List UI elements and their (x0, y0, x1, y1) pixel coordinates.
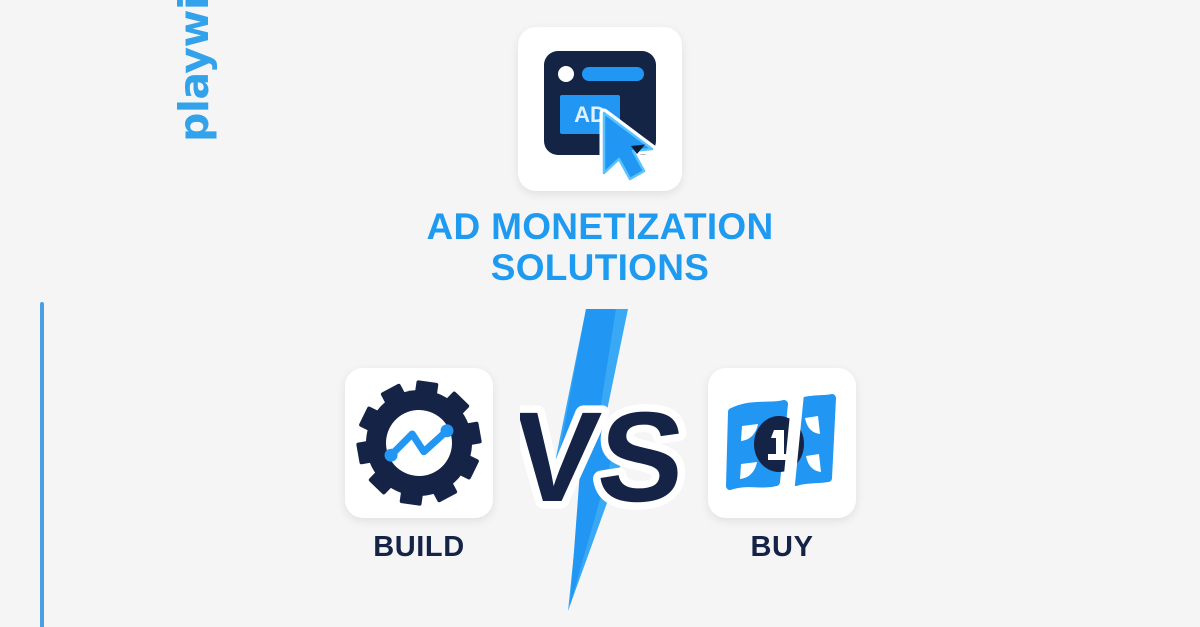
page-title: AD MONETIZATION SOLUTIONS (300, 206, 900, 289)
build-icon-card (345, 368, 493, 518)
brand-logo[interactable]: playwire ® (2, 0, 58, 144)
lightning-bolt-vs-icon: VS VS (520, 305, 700, 615)
ad-banner-click-icon: AD (518, 27, 682, 191)
money-bill-icon (708, 368, 856, 518)
versus-text: VS (520, 386, 690, 529)
brand-logo-wrap: playwire ® (2, 0, 215, 144)
page-title-line-1: AD MONETIZATION (426, 206, 773, 247)
buy-icon-card (708, 368, 856, 518)
build-label: BUILD (309, 531, 529, 564)
brand-vertical-rule (40, 302, 44, 627)
ad-monetization-icon-card: AD (518, 27, 682, 191)
versus-divider: VS VS (520, 305, 700, 615)
gear-analytics-icon (345, 368, 493, 518)
poster-canvas: playwire ® AD AD MONETIZATION SOLUTION (0, 0, 1200, 627)
page-title-line-2: SOLUTIONS (300, 247, 900, 288)
brand-logo-text: playwire (170, 0, 218, 142)
buy-label: BUY (672, 531, 892, 564)
